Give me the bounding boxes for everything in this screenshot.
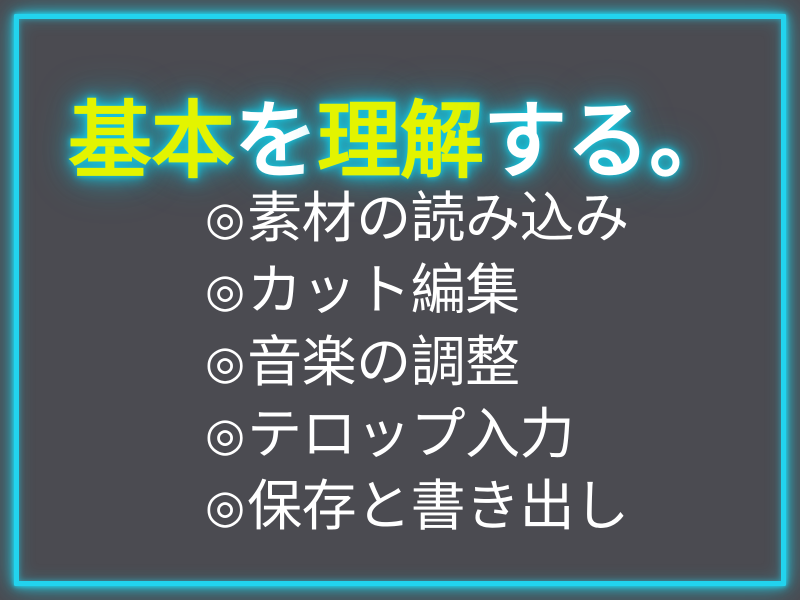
bullseye-icon: ◎ (205, 411, 245, 457)
title-segment-2: を (234, 91, 317, 190)
title-segment-4: する。 (483, 91, 732, 190)
list-item: ◎ 素材の読み込み (205, 182, 765, 254)
list-item-label: 素材の読み込み (247, 191, 629, 246)
bullseye-icon: ◎ (205, 195, 245, 241)
bullseye-icon: ◎ (205, 267, 245, 313)
list-item-label: カット編集 (247, 263, 520, 318)
slide-canvas: 基本を理解する。 ◎ 素材の読み込み ◎ カット編集 ◎ 音楽の調整 ◎ テロッ… (0, 0, 800, 600)
list-item-label: テロップ入力 (247, 407, 574, 462)
list-item: ◎ カット編集 (205, 254, 765, 326)
list-item: ◎ テロップ入力 (205, 398, 765, 470)
list-item: ◎ 音楽の調整 (205, 326, 765, 398)
bullseye-icon: ◎ (205, 339, 245, 385)
list-item: ◎ 保存と書き出し (205, 470, 765, 542)
bullet-list: ◎ 素材の読み込み ◎ カット編集 ◎ 音楽の調整 ◎ テロップ入力 ◎ 保存と… (205, 182, 765, 542)
bullseye-icon: ◎ (205, 483, 245, 529)
list-item-label: 音楽の調整 (247, 335, 520, 390)
page-title: 基本を理解する。 (68, 96, 732, 185)
title-segment-3: 理解 (317, 91, 483, 190)
list-item-label: 保存と書き出し (247, 479, 629, 534)
title-segment-1: 基本 (68, 91, 234, 190)
